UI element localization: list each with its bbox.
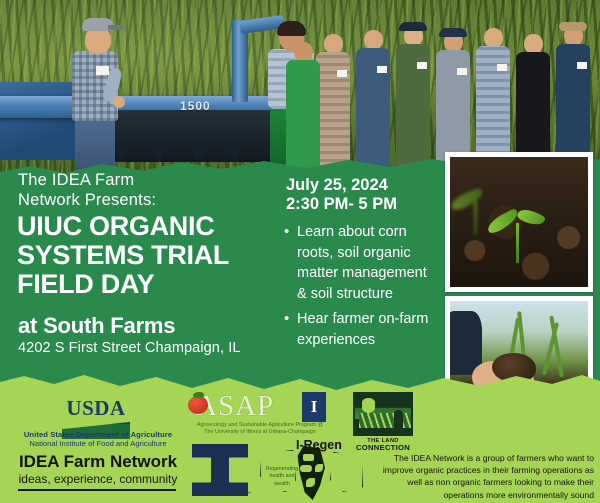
usda-institute-line: National Institute of Food and Agricultu… bbox=[8, 439, 188, 448]
attendee bbox=[316, 34, 350, 170]
iregen-wordmark: I-Regen bbox=[296, 438, 342, 452]
photo-corn-seedling bbox=[445, 152, 593, 292]
baseball-cap-icon bbox=[82, 18, 114, 31]
trademark-symbol: ™ bbox=[246, 491, 251, 497]
hero-photo: 1500 bbox=[0, 0, 600, 176]
list-item: Learn about corn roots, soil organic mat… bbox=[284, 222, 434, 304]
planter-model-number: 1500 bbox=[180, 99, 211, 113]
event-highlights-list: Learn about corn roots, soil organic mat… bbox=[284, 222, 434, 355]
asap-illinois-badge: I bbox=[302, 392, 326, 422]
attendee bbox=[476, 28, 510, 170]
speaking-farmer bbox=[68, 18, 124, 168]
venue-name: at South Farms bbox=[18, 313, 175, 339]
attendee bbox=[516, 34, 550, 170]
ohio-outline-icon bbox=[330, 452, 363, 492]
asap-subtitle: Agroecology and Sustainable Agriculture … bbox=[196, 422, 324, 437]
attendee bbox=[356, 30, 390, 170]
usda-agency-line: United States Department of Agriculture bbox=[8, 430, 188, 439]
tomato-icon bbox=[188, 396, 208, 414]
illinois-block-i-logo: ™ bbox=[192, 444, 248, 496]
idea-farm-network-name: IDEA Farm Network bbox=[6, 452, 190, 472]
farm-landscape-icon bbox=[353, 392, 413, 436]
asap-badge-letter: I bbox=[311, 397, 318, 417]
usda-wordmark: USDA bbox=[62, 396, 130, 421]
presenter-line: The IDEA Farm Network Presents: bbox=[18, 170, 268, 210]
list-item: Hear farmer on-farm experiences bbox=[284, 309, 434, 350]
network-description: The IDEA Network is a group of farmers w… bbox=[378, 452, 594, 501]
attendee bbox=[556, 26, 590, 170]
event-datetime: July 25, 2024 2:30 PM- 5 PM bbox=[286, 176, 397, 215]
iregen-tagline: Regenerating health and wealth bbox=[262, 466, 302, 488]
attendee bbox=[286, 42, 320, 170]
land-connection-logo: THE LAND CONNECTION bbox=[350, 392, 416, 452]
event-time: 2:30 PM- 5 PM bbox=[286, 195, 397, 214]
venue-address: 4202 S First Street Champaign, IL bbox=[18, 340, 241, 356]
attendee bbox=[436, 32, 470, 170]
event-date: July 25, 2024 bbox=[286, 176, 397, 195]
asap-logo: ASAP I Agroecology and Sustainable Agric… bbox=[196, 392, 324, 421]
idea-farm-network-tagline: ideas, experience, community bbox=[6, 472, 190, 486]
block-i-icon bbox=[192, 444, 248, 496]
farmer-nametag bbox=[96, 66, 109, 75]
land-connection-line2: CONNECTION bbox=[350, 444, 416, 452]
flyer-poster: 1500 bbox=[0, 0, 600, 503]
page-title: UIUC ORGANIC SYSTEMS TRIAL FIELD DAY bbox=[17, 212, 289, 299]
divider bbox=[18, 489, 176, 491]
attendee bbox=[396, 26, 430, 170]
